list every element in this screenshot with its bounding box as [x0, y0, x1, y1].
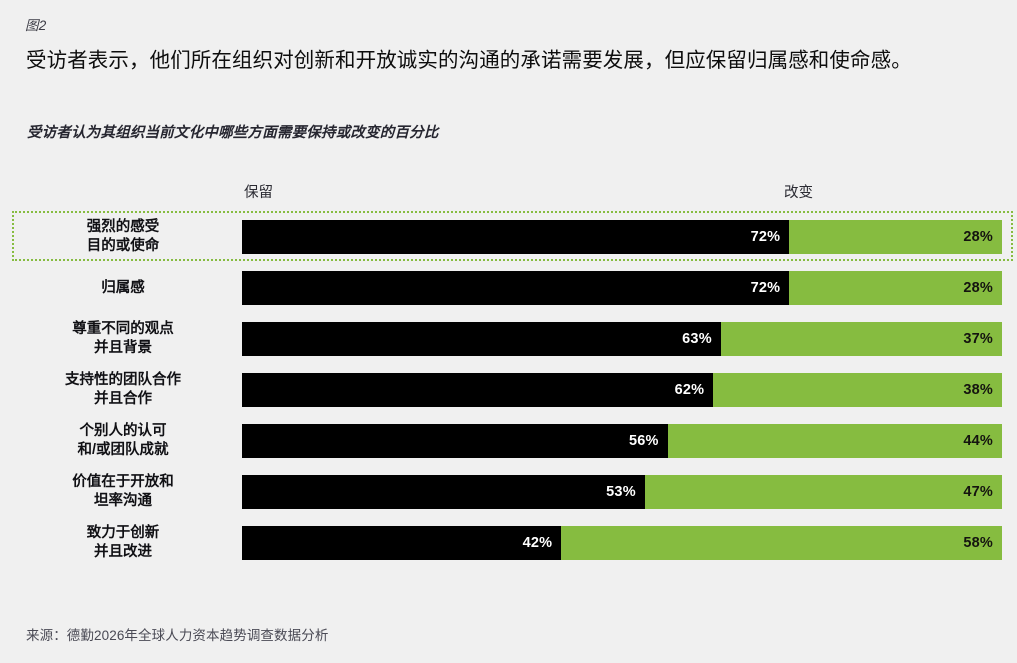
category-label: 支持性的团队合作并且合作 — [12, 373, 234, 407]
chart-row-inner: 致力于创新并且改进42%58% — [0, 526, 1017, 560]
category-label-line1: 个别人的认可 — [80, 422, 167, 441]
chart-row-inner: 归属感72%28% — [0, 271, 1017, 305]
category-label-line2: 并且合作 — [94, 390, 152, 409]
bar-segment-retain: 42% — [242, 526, 561, 560]
bar-segment-change: 28% — [789, 271, 1002, 305]
bar-segment-change: 37% — [721, 322, 1002, 356]
figure-subheadline: 受访者认为其组织当前文化中哪些方面需要保持或改变的百分比 — [27, 121, 967, 142]
bar-segment-retain: 72% — [242, 220, 789, 254]
bar-segment-change: 38% — [713, 373, 1002, 407]
category-label-line2: 和/或团队成就 — [77, 441, 168, 460]
bar-segment-change: 47% — [645, 475, 1002, 509]
bar-track: 72%28% — [242, 271, 1002, 305]
chart-row: 个别人的认可和/或团队成就56%44% — [0, 415, 1017, 466]
bar-segment-retain: 63% — [242, 322, 721, 356]
category-label-line1: 致力于创新 — [87, 524, 160, 543]
chart-row: 归属感72%28% — [0, 262, 1017, 313]
legend-label-retain: 保留 — [244, 181, 273, 202]
category-label-line1: 强烈的感受 — [87, 218, 160, 237]
chart-row: 强烈的感受目的或使命72%28% — [0, 211, 1017, 262]
figure-headline: 受访者表示，他们所在组织对创新和开放诚实的沟通的承诺需要发展，但应保留归属感和使… — [26, 44, 986, 77]
bar-segment-retain: 62% — [242, 373, 713, 407]
chart-row-inner: 价值在于开放和坦率沟通53%47% — [0, 475, 1017, 509]
chart-row-inner: 强烈的感受目的或使命72%28% — [0, 220, 1017, 254]
bar-segment-retain: 53% — [242, 475, 645, 509]
source-note: 来源：德勤2026年全球人力资本趋势调查数据分析 — [26, 624, 328, 644]
category-label-line1: 尊重不同的观点 — [72, 320, 174, 339]
stacked-bar-chart: 保留 改变 强烈的感受目的或使命72%28%归属感72%28%尊重不同的观点并且… — [0, 168, 1017, 588]
chart-row: 尊重不同的观点并且背景63%37% — [0, 313, 1017, 364]
chart-row: 价值在于开放和坦率沟通53%47% — [0, 466, 1017, 517]
bar-track: 53%47% — [242, 475, 1002, 509]
bar-segment-retain: 72% — [242, 271, 789, 305]
bar-segment-change: 28% — [789, 220, 1002, 254]
category-label-line1: 支持性的团队合作 — [65, 371, 181, 390]
category-label: 归属感 — [12, 271, 234, 305]
category-label-line1: 价值在于开放和 — [72, 473, 174, 492]
bar-segment-retain: 56% — [242, 424, 668, 458]
chart-row: 致力于创新并且改进42%58% — [0, 517, 1017, 568]
chart-legend: 保留 改变 — [0, 181, 1017, 205]
category-label: 个别人的认可和/或团队成就 — [12, 424, 234, 458]
bar-track: 63%37% — [242, 322, 1002, 356]
category-label-line1: 归属感 — [101, 279, 145, 297]
bar-segment-change: 44% — [668, 424, 1002, 458]
chart-row-inner: 个别人的认可和/或团队成就56%44% — [0, 424, 1017, 458]
figure-container: 图2 受访者表示，他们所在组织对创新和开放诚实的沟通的承诺需要发展，但应保留归属… — [0, 0, 1017, 663]
chart-row-inner: 尊重不同的观点并且背景63%37% — [0, 322, 1017, 356]
bar-track: 62%38% — [242, 373, 1002, 407]
category-label-line2: 目的或使命 — [87, 237, 160, 256]
category-label-line2: 并且改进 — [94, 543, 152, 562]
category-label: 价值在于开放和坦率沟通 — [12, 475, 234, 509]
bar-track: 42%58% — [242, 526, 1002, 560]
legend-label-change: 改变 — [784, 181, 813, 202]
category-label-line2: 并且背景 — [94, 339, 152, 358]
bar-track: 72%28% — [242, 220, 1002, 254]
figure-number-label: 图2 — [25, 14, 46, 34]
chart-row: 支持性的团队合作并且合作62%38% — [0, 364, 1017, 415]
chart-rows: 强烈的感受目的或使命72%28%归属感72%28%尊重不同的观点并且背景63%3… — [0, 211, 1017, 568]
bar-track: 56%44% — [242, 424, 1002, 458]
category-label: 致力于创新并且改进 — [12, 526, 234, 560]
category-label-line2: 坦率沟通 — [94, 492, 152, 511]
category-label: 尊重不同的观点并且背景 — [12, 322, 234, 356]
category-label: 强烈的感受目的或使命 — [12, 220, 234, 254]
bar-segment-change: 58% — [561, 526, 1002, 560]
chart-row-inner: 支持性的团队合作并且合作62%38% — [0, 373, 1017, 407]
